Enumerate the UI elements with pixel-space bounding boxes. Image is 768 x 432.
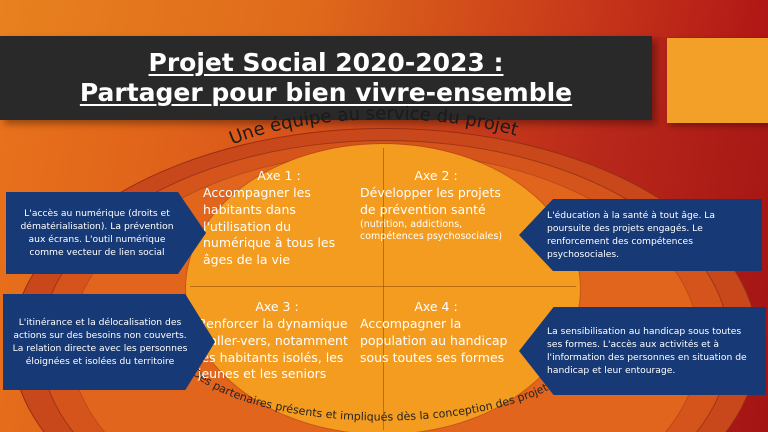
slide-title-line-2: Partager pour bien vivre-ensemble bbox=[80, 78, 572, 109]
callout-bottom-right-text: La sensibilisation au handicap sous tout… bbox=[547, 325, 758, 377]
slide-title-line-1: Projet Social 2020-2023 : bbox=[149, 48, 504, 79]
callout-top-left-text: L'accès au numérique (droits et dématéri… bbox=[14, 207, 180, 259]
slide-title-bar: Projet Social 2020-2023 : Partager pour … bbox=[0, 36, 652, 120]
quadrant-axe2-sub: (nutrition, addictions, compétences psyc… bbox=[360, 219, 512, 244]
quadrant-axe2: Axe 2 : Développer les projets de préven… bbox=[360, 168, 512, 243]
quadrant-axe4: Axe 4 : Accompagner la population au han… bbox=[360, 299, 512, 366]
callout-top-right: L'éducation à la santé à tout âge. La po… bbox=[519, 199, 762, 271]
callout-bottom-left-text: L'itinérance et la délocalisation des ac… bbox=[11, 316, 189, 368]
quadrant-axe1: Axe 1 : Accompagner les habitants dans l… bbox=[203, 168, 355, 268]
quadrant-axe3-header: Axe 3 : bbox=[198, 299, 356, 315]
callout-bottom-left: L'itinérance et la délocalisation des ac… bbox=[3, 294, 215, 390]
quadrant-axe3: Axe 3 : Renforcer la dynamique d'aller-v… bbox=[198, 299, 356, 383]
quadrant-divider-horizontal bbox=[190, 286, 576, 287]
presentation-slide: Projet Social 2020-2023 : Partager pour … bbox=[0, 0, 768, 432]
quadrant-axe2-header: Axe 2 : bbox=[360, 168, 512, 184]
callout-top-right-text: L'éducation à la santé à tout âge. La po… bbox=[547, 209, 754, 261]
quadrant-axe4-header: Axe 4 : bbox=[360, 299, 512, 315]
callout-bottom-right: La sensibilisation au handicap sous tout… bbox=[519, 307, 766, 395]
callout-top-left: L'accès au numérique (droits et dématéri… bbox=[6, 192, 206, 274]
quadrant-axe1-body: Accompagner les habitants dans l'utilisa… bbox=[203, 185, 355, 268]
quadrant-axe1-header: Axe 1 : bbox=[203, 168, 355, 184]
top-color-strip bbox=[0, 0, 768, 37]
quadrant-axe4-body: Accompagner la population au handicap so… bbox=[360, 316, 512, 366]
quadrant-axe3-body: Renforcer la dynamique d'aller-vers, not… bbox=[198, 316, 356, 383]
accent-amber-box bbox=[667, 38, 768, 123]
quadrant-axe2-body: Développer les projets de prévention san… bbox=[360, 185, 512, 218]
